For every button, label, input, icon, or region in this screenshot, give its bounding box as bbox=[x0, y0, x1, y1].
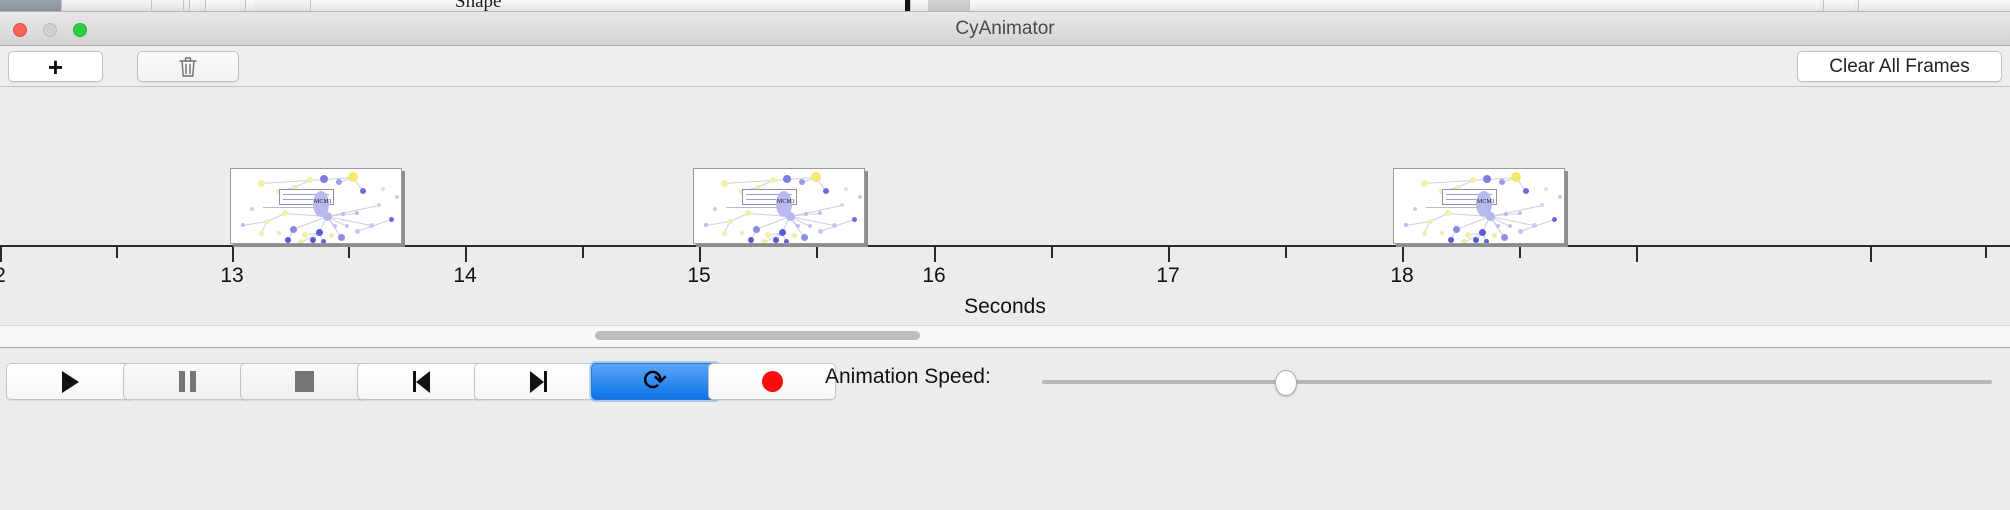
skip-fwd-button[interactable] bbox=[474, 363, 602, 400]
graph-node bbox=[348, 172, 358, 182]
graph-node bbox=[259, 231, 264, 236]
tick-minor-3 bbox=[816, 247, 818, 258]
tick-label-2: 2 bbox=[0, 264, 6, 288]
graph-node bbox=[779, 229, 786, 236]
timeline-axis bbox=[0, 245, 2010, 247]
window-title: CyAnimator bbox=[0, 12, 2010, 46]
graph-node bbox=[329, 233, 334, 238]
graph-node bbox=[389, 217, 394, 222]
bg-window-label: Shape bbox=[455, 0, 501, 12]
graph-edge bbox=[357, 219, 391, 232]
graph-node bbox=[1501, 234, 1508, 241]
graph-node bbox=[840, 203, 844, 207]
graph-node bbox=[823, 188, 829, 194]
graph-node bbox=[753, 226, 760, 233]
graph-node bbox=[740, 231, 744, 235]
graph-node bbox=[1518, 211, 1522, 215]
bg-tab-6 bbox=[240, 0, 246, 12]
graph-node bbox=[818, 229, 823, 234]
graph-node bbox=[265, 219, 270, 224]
graph-node bbox=[1484, 239, 1489, 244]
tooltip-text-line bbox=[746, 199, 776, 200]
graph-node bbox=[1421, 180, 1428, 187]
tick-minor-2 bbox=[582, 247, 584, 258]
graph-node bbox=[1461, 239, 1467, 244]
graph-node bbox=[381, 187, 385, 191]
tick-label-15: 15 bbox=[687, 264, 710, 288]
graph-node bbox=[307, 177, 313, 183]
graph-hub-label: MCM1 bbox=[1477, 199, 1495, 205]
graph-node bbox=[844, 187, 848, 191]
graph-node bbox=[1453, 226, 1460, 233]
animation-speed-slider-track[interactable] bbox=[1042, 380, 1992, 384]
tick-minor-6 bbox=[1519, 247, 1521, 258]
graph-node bbox=[1445, 210, 1451, 216]
bg-tab-2 bbox=[62, 0, 152, 12]
graph-edge bbox=[261, 179, 324, 184]
graph-node bbox=[808, 224, 812, 228]
graph-node bbox=[761, 239, 767, 244]
loop-icon: ⟳ bbox=[643, 367, 667, 396]
timeline-panel[interactable]: 2131415161718 MCM1MCM1MCM1 Seconds bbox=[0, 87, 2010, 325]
graph-node bbox=[241, 223, 245, 227]
tick-label-13: 13 bbox=[220, 264, 243, 288]
tick-major-5 bbox=[1168, 247, 1170, 262]
title-bar: CyAnimator bbox=[0, 12, 2010, 46]
graph-edge bbox=[724, 179, 787, 184]
plus-icon: + bbox=[48, 54, 63, 80]
graph-node bbox=[1448, 237, 1454, 243]
graph-node bbox=[258, 180, 265, 187]
graph-node bbox=[1440, 231, 1444, 235]
graph-node bbox=[748, 237, 754, 243]
tick-major-6 bbox=[1402, 247, 1404, 262]
keyframe-1[interactable]: MCM1 bbox=[230, 168, 402, 244]
record-button[interactable] bbox=[708, 363, 836, 400]
graph-node bbox=[796, 224, 800, 228]
graph-node bbox=[1428, 219, 1433, 224]
timeline-scrollbar[interactable] bbox=[0, 325, 2010, 347]
graph-node bbox=[773, 237, 779, 243]
tick-label-16: 16 bbox=[922, 264, 945, 288]
stop-button[interactable] bbox=[240, 363, 368, 400]
pause-icon bbox=[179, 371, 196, 392]
graph-node bbox=[377, 203, 381, 207]
graph-node bbox=[1544, 187, 1548, 191]
bg-tab-3 bbox=[152, 0, 184, 12]
graph-node bbox=[1499, 179, 1505, 185]
graph-hub-label: MCM1 bbox=[314, 199, 332, 205]
tick-label-18: 18 bbox=[1390, 264, 1413, 288]
graph-node bbox=[1404, 223, 1408, 227]
play-button[interactable] bbox=[6, 363, 134, 400]
animation-speed-slider-thumb[interactable] bbox=[1275, 370, 1297, 396]
graph-node bbox=[852, 217, 857, 222]
graph-node bbox=[355, 229, 360, 234]
graph-node bbox=[1552, 217, 1557, 222]
graph-node bbox=[1413, 207, 1417, 211]
clear-all-frames-label: Clear All Frames bbox=[1829, 56, 1969, 78]
graph-node bbox=[1508, 224, 1512, 228]
graph-node bbox=[722, 231, 727, 236]
playback-control-bar: ⟳ Animation Speed: bbox=[0, 347, 2010, 510]
graph-node bbox=[811, 172, 821, 182]
graph-node bbox=[1470, 177, 1476, 183]
graph-edge bbox=[820, 219, 854, 232]
graph-node bbox=[1473, 237, 1479, 243]
network-thumbnail: MCM1 bbox=[694, 169, 864, 243]
graph-node bbox=[341, 212, 345, 216]
tick-minor-1 bbox=[348, 247, 350, 258]
tick-minor-7 bbox=[1636, 247, 1638, 258]
graph-node bbox=[801, 234, 808, 241]
tick-major-4 bbox=[934, 247, 936, 262]
graph-node bbox=[745, 210, 751, 216]
delete-frame-button[interactable] bbox=[137, 51, 239, 82]
tooltip-text-line bbox=[283, 199, 313, 200]
tick-label-14: 14 bbox=[453, 264, 476, 288]
graph-node bbox=[858, 195, 862, 199]
graph-node bbox=[704, 223, 708, 227]
graph-node bbox=[395, 195, 399, 199]
graph-node bbox=[818, 211, 822, 215]
keyframe-2[interactable]: MCM1 bbox=[693, 168, 865, 244]
graph-node bbox=[804, 212, 808, 216]
add-frame-button[interactable]: + bbox=[8, 51, 103, 82]
loop-button[interactable]: ⟳ bbox=[591, 363, 719, 400]
graph-node bbox=[1518, 229, 1523, 234]
graph-node bbox=[1496, 224, 1500, 228]
tick-minor-9 bbox=[1985, 247, 1987, 258]
graph-caption-line bbox=[726, 207, 780, 208]
tick-major-0 bbox=[0, 247, 2, 262]
trash-icon bbox=[178, 56, 198, 78]
axis-title: Seconds bbox=[0, 295, 2010, 319]
graph-node bbox=[1492, 233, 1497, 238]
graph-node bbox=[338, 234, 345, 241]
tick-major-2 bbox=[465, 247, 467, 262]
graph-node bbox=[792, 233, 797, 238]
graph-node bbox=[285, 237, 291, 243]
background-window-strip: Shape bbox=[0, 0, 2010, 12]
graph-node bbox=[355, 211, 359, 215]
graph-node bbox=[1504, 212, 1508, 216]
bg-tab-5 bbox=[200, 0, 206, 12]
graph-node bbox=[321, 239, 326, 244]
graph-node bbox=[728, 219, 733, 224]
graph-hub-label: MCM1 bbox=[777, 199, 795, 205]
graph-node bbox=[360, 188, 366, 194]
play-icon bbox=[62, 371, 79, 393]
graph-caption-line bbox=[1426, 207, 1480, 208]
record-icon bbox=[762, 371, 783, 392]
graph-node bbox=[832, 223, 837, 228]
graph-node bbox=[721, 180, 728, 187]
graph-node bbox=[298, 239, 304, 244]
graph-caption-line bbox=[263, 207, 317, 208]
graph-edge bbox=[1424, 179, 1487, 184]
tick-label-17: 17 bbox=[1156, 264, 1179, 288]
stop-icon bbox=[295, 371, 314, 392]
bg-tab-1 bbox=[0, 0, 62, 12]
skip-back-icon bbox=[413, 371, 430, 393]
graph-node bbox=[316, 229, 323, 236]
graph-node bbox=[1422, 231, 1427, 236]
tick-minor-5 bbox=[1285, 247, 1287, 258]
graph-node bbox=[1483, 175, 1491, 183]
graph-node bbox=[250, 207, 254, 211]
clear-all-frames-button[interactable]: Clear All Frames bbox=[1797, 51, 2002, 82]
tick-major-3 bbox=[699, 247, 701, 262]
graph-node bbox=[1532, 223, 1537, 228]
tick-major-1 bbox=[232, 247, 234, 262]
graph-node bbox=[1558, 195, 1562, 199]
tick-minor-0 bbox=[116, 247, 118, 258]
tick-minor-8 bbox=[1870, 247, 1872, 258]
graph-node bbox=[1511, 172, 1521, 182]
bg-tab-7 bbox=[255, 0, 311, 12]
graph-node bbox=[277, 231, 281, 235]
graph-node bbox=[345, 224, 349, 228]
graph-node bbox=[783, 175, 791, 183]
graph-node bbox=[333, 224, 337, 228]
graph-edge bbox=[1520, 219, 1554, 232]
graph-node bbox=[1540, 203, 1544, 207]
graph-node bbox=[1479, 229, 1486, 236]
graph-node bbox=[320, 175, 328, 183]
bg-tab-8 bbox=[905, 0, 911, 12]
graph-node bbox=[770, 177, 776, 183]
pause-button[interactable] bbox=[123, 363, 251, 400]
graph-node bbox=[1465, 232, 1471, 238]
graph-node bbox=[784, 239, 789, 244]
tick-minor-4 bbox=[1051, 247, 1053, 258]
bg-tab-10 bbox=[1820, 0, 1824, 12]
bg-tab-9 bbox=[928, 0, 970, 12]
graph-node bbox=[282, 210, 288, 216]
graph-node bbox=[310, 237, 316, 243]
graph-node bbox=[765, 232, 771, 238]
network-thumbnail: MCM1 bbox=[231, 169, 401, 243]
bg-tab-11 bbox=[1855, 0, 1859, 12]
graph-node bbox=[336, 179, 342, 185]
graph-node bbox=[713, 207, 717, 211]
animation-speed-label: Animation Speed: bbox=[825, 365, 991, 389]
skip-back-button[interactable] bbox=[357, 363, 485, 400]
graph-node bbox=[290, 226, 297, 233]
network-thumbnail: MCM1 bbox=[1394, 169, 1564, 243]
cyanimator-window: Shape CyAnimator + Clear All Frames 2131… bbox=[0, 0, 2010, 510]
tooltip-text-line bbox=[1446, 199, 1476, 200]
keyframe-3[interactable]: MCM1 bbox=[1393, 168, 1565, 244]
graph-node bbox=[369, 223, 374, 228]
bg-tab-4 bbox=[184, 0, 190, 12]
graph-node bbox=[1523, 188, 1529, 194]
skip-forward-icon bbox=[530, 371, 547, 393]
scrollbar-thumb[interactable] bbox=[595, 331, 920, 340]
toolbar: + Clear All Frames bbox=[0, 46, 2010, 87]
graph-node bbox=[799, 179, 805, 185]
graph-node bbox=[302, 232, 308, 238]
